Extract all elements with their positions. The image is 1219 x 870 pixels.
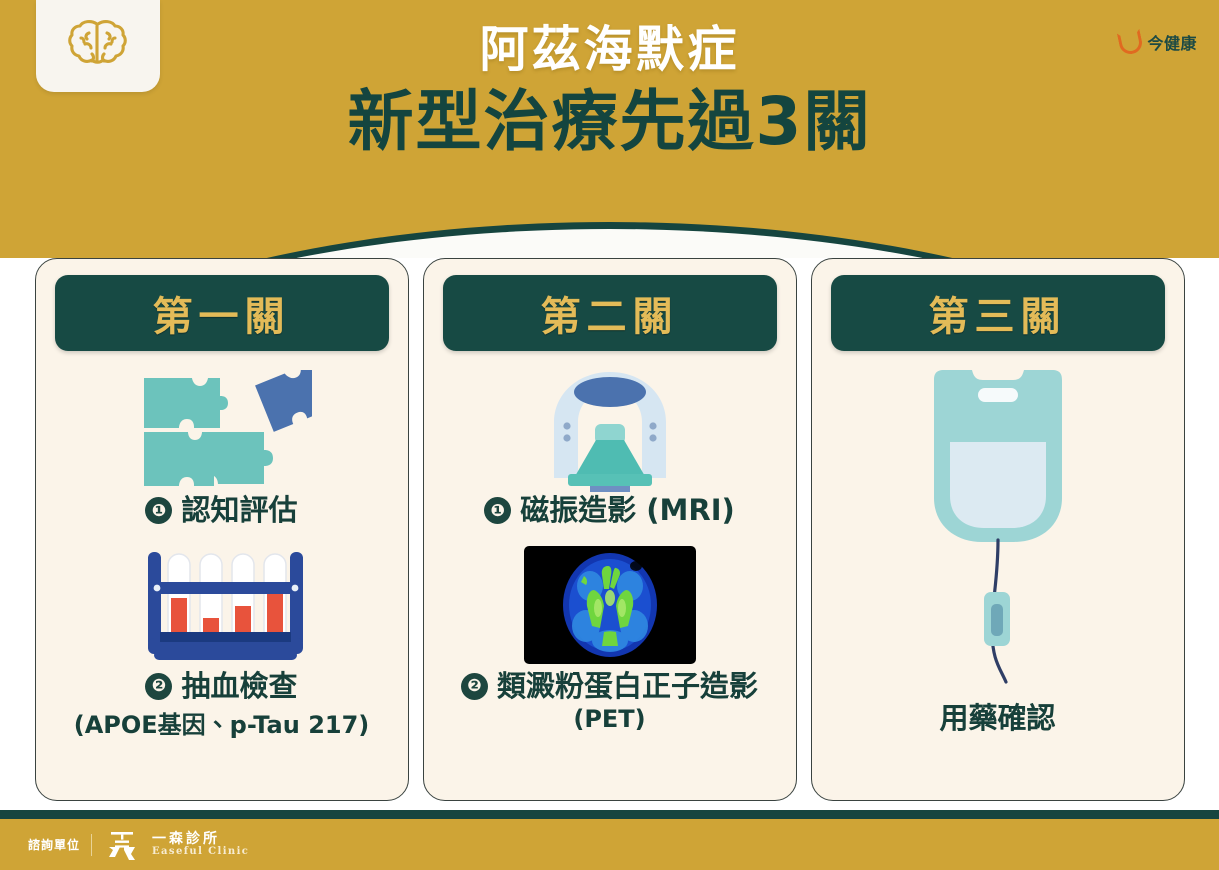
card-1-item-2: ❷ 抽血檢查 (APOE基因、p-Tau 217) (50, 539, 394, 740)
card-1-item-2-label: ❷ 抽血檢查 (145, 671, 297, 703)
badge-number: ❶ (145, 497, 172, 524)
label-text: 用藥確認 (939, 703, 1055, 735)
footer-content: 諮詢單位 一森診所 Easeful Clinic (0, 830, 249, 860)
header-banner: 阿茲海默症 新型治療先過3關 今健康 (0, 0, 1219, 258)
test-tube-rack-icon (138, 539, 306, 671)
mri-scanner-icon (540, 363, 680, 495)
clinic-names: 一森診所 Easeful Clinic (152, 832, 249, 857)
footer-separator (91, 834, 92, 856)
cards-board: 第一關 ❶ (0, 248, 1219, 813)
card-stage-1[interactable]: 第一關 ❶ (35, 258, 409, 801)
card-3-header-label: 第三關 (929, 284, 1067, 342)
badge-number: ❷ (145, 673, 172, 700)
card-1-item-1-label: ❶ 認知評估 (145, 495, 297, 527)
iv-infusion-bag-icon (918, 357, 1078, 689)
card-3-item-1: 用藥確認 (826, 351, 1170, 790)
badge-number: ❷ (461, 673, 488, 700)
card-2-header-label: 第二關 (541, 284, 679, 342)
badge-number: ❶ (484, 497, 511, 524)
clinic-name-zh: 一森診所 (152, 832, 249, 847)
brain-icon (67, 18, 129, 75)
page-title-main: 阿茲海默症 (0, 22, 1219, 78)
page-title-sub: 新型治療先過3關 (0, 82, 1219, 161)
card-2-item-1: ❶ 磁振造影 (MRI) (438, 363, 782, 527)
brand-name: 今健康 (1147, 30, 1197, 54)
card-1-item-1: ❶ 認知評估 (50, 363, 394, 527)
easeful-clinic-mark-icon (103, 830, 141, 860)
pet-brain-scan-icon (524, 539, 696, 671)
card-stage-2[interactable]: 第二關 (423, 258, 797, 801)
infographic-root: 阿茲海默症 新型治療先過3關 今健康 第一關 (0, 0, 1219, 870)
card-2-item-2: ❷ 類澱粉蛋白正子造影 (PET) (438, 539, 782, 733)
footer-label: 諮詢單位 (28, 836, 80, 853)
title-block: 阿茲海默症 新型治療先過3關 (0, 22, 1219, 162)
card-stage-3[interactable]: 第三關 用藥確認 (811, 258, 1185, 801)
brand-u-icon (1117, 28, 1144, 55)
card-1-header: 第一關 (55, 275, 389, 351)
footer-bar: 諮詢單位 一森診所 Easeful Clinic (0, 819, 1219, 870)
label-text: 抽血檢查 (181, 671, 297, 703)
footer-divider (0, 810, 1219, 819)
card-2-item-2-label: ❷ 類澱粉蛋白正子造影 (461, 671, 758, 703)
card-2-item-2-sub: (PET) (573, 705, 645, 733)
card-2-header: 第二關 (443, 275, 777, 351)
label-text: 類澱粉蛋白正子造影 (497, 671, 758, 703)
card-1-item-2-sub: (APOE基因、p-Tau 217) (74, 705, 370, 740)
brand-logo: 今健康 (1119, 30, 1197, 54)
card-3-item-1-label: 用藥確認 (939, 703, 1055, 735)
card-3-header: 第三關 (831, 275, 1165, 351)
label-text: 磁振造影 (MRI) (520, 495, 735, 527)
clinic-name-en: Easeful Clinic (152, 847, 249, 858)
card-2-item-1-label: ❶ 磁振造影 (MRI) (484, 495, 735, 527)
brain-badge (36, 0, 160, 92)
label-text: 認知評估 (181, 495, 297, 527)
card-1-header-label: 第一關 (153, 284, 291, 342)
puzzle-pieces-icon (132, 363, 312, 495)
